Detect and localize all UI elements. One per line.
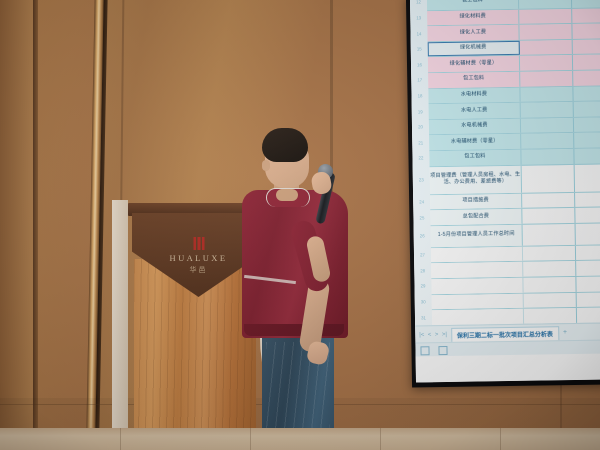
- row-label-cell[interactable]: 绿化人工费: [427, 25, 519, 41]
- row-value-cell-a[interactable]: [520, 71, 573, 86]
- presenter-shirt-hem: [244, 324, 344, 336]
- row-label-cell[interactable]: [431, 278, 523, 294]
- row-label-text: 水电机械费: [461, 123, 488, 130]
- presenter-ear: [262, 160, 270, 171]
- row-number[interactable]: 18: [411, 93, 428, 98]
- row-value-cell-a[interactable]: [523, 224, 576, 246]
- row-label-cell[interactable]: 包工包料: [428, 72, 520, 88]
- row-value-cell-a[interactable]: [520, 40, 573, 55]
- row-value-cell-b[interactable]: [576, 276, 600, 291]
- row-label-cell[interactable]: 1-5月份项目管理人员工作总时间: [431, 224, 523, 246]
- row-number[interactable]: 14: [410, 31, 427, 36]
- row-label-text: 绿化人工费: [460, 30, 487, 37]
- row-label-text: 水电人工费: [461, 108, 488, 115]
- row-label-cell[interactable]: 水电材料费: [428, 87, 520, 103]
- spreadsheet-row[interactable]: 项目管理费（管理人员房租、水电、生活、办公费用、差旅费等）: [430, 164, 600, 195]
- layout-mode-icon[interactable]: [438, 345, 447, 354]
- row-number[interactable]: 30: [415, 299, 432, 304]
- row-value-cell-b[interactable]: [575, 192, 600, 207]
- row-label-cell[interactable]: 包工包料: [427, 0, 519, 10]
- row-value-cell-b[interactable]: [572, 8, 600, 23]
- row-number[interactable]: 21: [412, 140, 429, 145]
- row-label-text: 包工包料: [463, 77, 484, 83]
- row-value-cell-b[interactable]: [573, 86, 600, 101]
- row-value-cell-b[interactable]: [574, 133, 600, 148]
- presenter-collar-opening: [276, 189, 298, 201]
- row-value-cell-a[interactable]: [523, 261, 576, 276]
- floor-seam-4: [500, 428, 501, 450]
- row-label-text: 水电辅材费（零星）: [451, 139, 499, 146]
- row-number[interactable]: 22: [412, 156, 429, 161]
- row-label-cell[interactable]: 水电辅材费（零星）: [429, 134, 521, 150]
- row-number[interactable]: 25: [413, 215, 430, 220]
- row-label-text: 绿化材料费: [459, 14, 486, 21]
- row-value-cell-a[interactable]: [521, 133, 574, 148]
- row-label-cell[interactable]: 水电机械费: [429, 119, 521, 135]
- projection-screen-frame: 1213141516171819202122232425262728293031…: [406, 0, 600, 388]
- row-value-cell-a[interactable]: [520, 87, 573, 102]
- row-number[interactable]: 28: [414, 268, 431, 273]
- row-value-cell-b[interactable]: [573, 39, 600, 54]
- row-label-text: 绿化机械费: [460, 45, 487, 52]
- add-sheet-icon[interactable]: +: [563, 329, 567, 336]
- row-value-cell-a[interactable]: [522, 208, 575, 223]
- row-value-cell-b[interactable]: [572, 0, 600, 8]
- last-sheet-icon[interactable]: >|: [442, 331, 447, 337]
- projection-screen: 1213141516171819202122232425262728293031…: [410, 0, 600, 382]
- row-value-cell-b[interactable]: [573, 55, 600, 70]
- row-label-cell[interactable]: 绿化材料费: [427, 9, 519, 25]
- row-number[interactable]: 20: [412, 124, 429, 129]
- row-number[interactable]: 23: [413, 177, 430, 182]
- row-value-cell-a[interactable]: [523, 277, 576, 292]
- spreadsheet-row[interactable]: 1-5月份项目管理人员工作总时间: [431, 223, 600, 248]
- row-value-cell-a[interactable]: [521, 149, 574, 164]
- presenter: [236, 128, 366, 450]
- row-value-cell-b[interactable]: [574, 148, 600, 163]
- floor-seam-2: [250, 428, 251, 450]
- row-label-cell[interactable]: [431, 246, 523, 262]
- first-sheet-icon[interactable]: |<: [419, 332, 424, 338]
- row-label-cell[interactable]: [432, 293, 524, 309]
- row-label-text: 包工包料: [462, 0, 483, 5]
- row-label-text: 水电材料费: [461, 92, 488, 99]
- presenter-hair: [262, 128, 308, 162]
- screen-blank-area: [416, 353, 600, 382]
- row-value-cell-b[interactable]: [572, 24, 600, 39]
- stage-floor: [0, 428, 600, 450]
- row-number[interactable]: 31: [415, 315, 432, 320]
- row-label-text: 项目措施费: [462, 198, 489, 205]
- row-label-text: 总包配合费: [463, 214, 490, 221]
- sheet-nav-buttons[interactable]: |< < > >|: [419, 331, 447, 337]
- screenshot-root: 1213141516171819202122232425262728293031…: [0, 0, 600, 450]
- floor-seam-3: [380, 428, 381, 450]
- row-label-cell[interactable]: [432, 309, 524, 325]
- presenter-polo-shirt: [242, 190, 348, 338]
- next-sheet-icon[interactable]: >: [435, 332, 439, 338]
- row-number[interactable]: 26: [414, 234, 431, 239]
- row-value-cell-a[interactable]: [522, 192, 575, 207]
- row-label-cell[interactable]: 总包配合费: [430, 209, 522, 225]
- row-value-cell-b[interactable]: [574, 117, 600, 132]
- row-value-cell-b[interactable]: [573, 70, 600, 85]
- row-label-cell[interactable]: 项目管理费（管理人员房租、水电、生活、办公费用、差旅费等）: [430, 165, 522, 193]
- floor-seam-1: [120, 428, 121, 450]
- hualuxe-logo-icon: [193, 237, 204, 250]
- row-label-cell[interactable]: 水电人工费: [429, 103, 521, 119]
- row-value-cell-a[interactable]: [519, 9, 572, 24]
- row-value-cell-b[interactable]: [576, 261, 600, 276]
- row-value-cell-a[interactable]: [519, 0, 572, 8]
- prev-sheet-icon[interactable]: <: [428, 332, 432, 338]
- row-value-cell-b[interactable]: [577, 308, 600, 323]
- row-value-cell-b[interactable]: [574, 102, 600, 117]
- wall-pillar-behind-podium: [112, 200, 128, 450]
- row-number[interactable]: 24: [413, 199, 430, 204]
- row-label-cell[interactable]: 绿化机械费: [428, 41, 520, 57]
- row-value-cell-b[interactable]: [577, 292, 600, 307]
- row-value-cell-a[interactable]: [520, 55, 573, 70]
- row-value-cell-a[interactable]: [522, 164, 575, 192]
- row-value-cell-a[interactable]: [521, 118, 574, 133]
- view-mode-icon[interactable]: [420, 346, 429, 355]
- row-number[interactable]: 27: [414, 252, 431, 257]
- wall-panel-left: [0, 0, 33, 450]
- row-value-cell-b[interactable]: [575, 208, 600, 223]
- row-label-cell[interactable]: 绿化辅材费（零星）: [428, 56, 520, 72]
- sheet-tab-active[interactable]: 保利三期二标一批次项目汇总分析表: [451, 326, 559, 342]
- row-number[interactable]: 17: [411, 78, 428, 83]
- row-label-text: 绿化辅材费（零星）: [450, 61, 498, 68]
- row-label-text: 项目管理费（管理人员房租、水电、生活、办公费用、差旅费等）: [430, 173, 521, 187]
- spreadsheet-grid: 包工包料绿化材料费绿化人工费绿化机械费绿化辅材费（零星）包工包料水电材料费水电人…: [427, 0, 600, 313]
- row-value-cell-a[interactable]: [523, 246, 576, 261]
- row-number[interactable]: 29: [414, 284, 431, 289]
- row-label-cell[interactable]: [431, 262, 523, 278]
- row-label-cell[interactable]: 项目措施费: [430, 193, 522, 209]
- row-label-text: 包工包料: [464, 155, 485, 161]
- row-number[interactable]: 12: [410, 0, 427, 5]
- row-value-cell-a[interactable]: [521, 102, 574, 117]
- row-value-cell-b[interactable]: [576, 223, 600, 245]
- row-number[interactable]: 16: [411, 62, 428, 67]
- row-value-cell-a[interactable]: [519, 24, 572, 39]
- row-number[interactable]: 19: [412, 109, 429, 114]
- row-label-cell[interactable]: 包工包料: [429, 150, 521, 166]
- row-number[interactable]: 13: [410, 15, 427, 20]
- row-label-text: 1-5月份项目管理人员工作总时间: [438, 232, 515, 239]
- row-value-cell-a[interactable]: [524, 292, 577, 307]
- row-value-cell-a[interactable]: [524, 308, 577, 323]
- row-value-cell-b[interactable]: [576, 245, 600, 260]
- row-value-cell-b[interactable]: [575, 164, 600, 191]
- row-number[interactable]: 15: [411, 46, 428, 51]
